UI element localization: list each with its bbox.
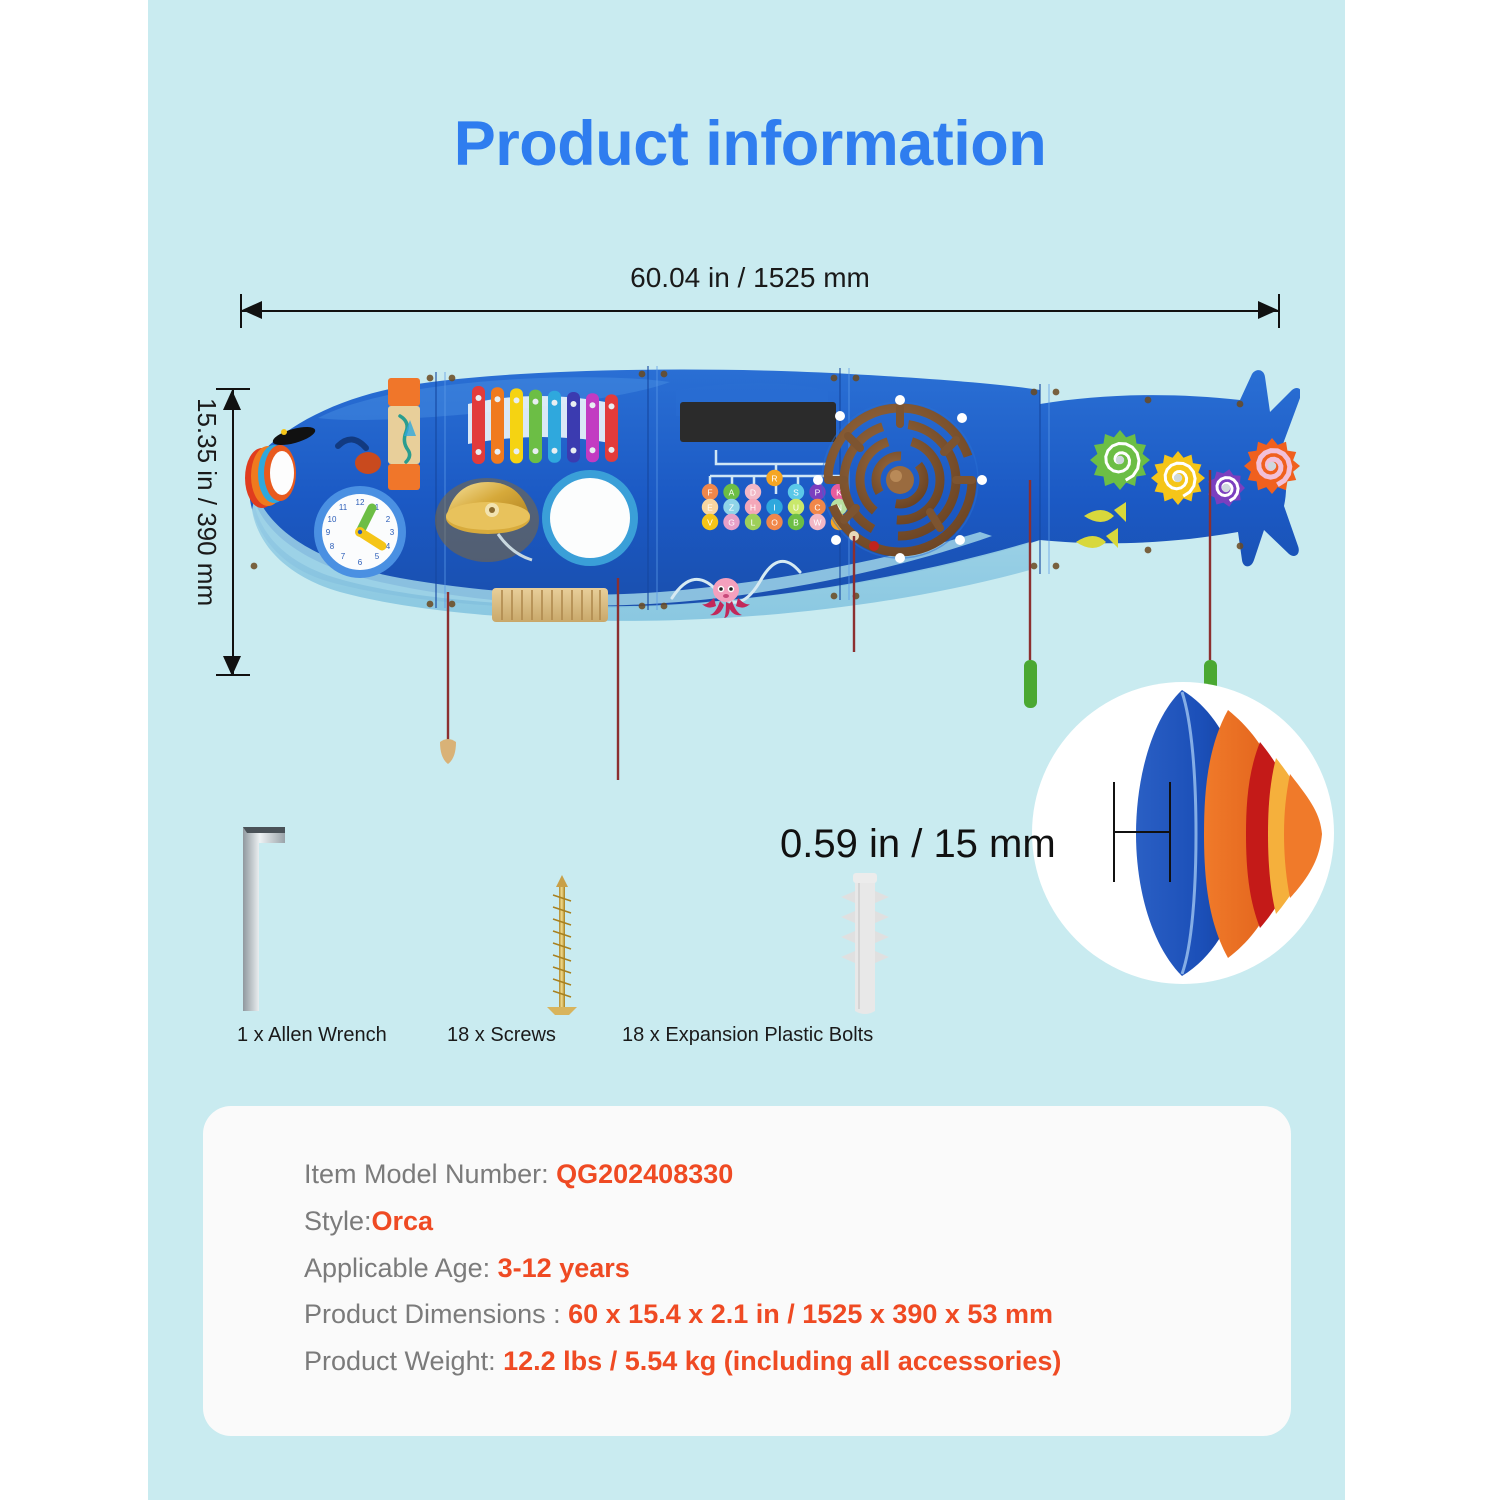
expansion-bolt-icon bbox=[841, 873, 889, 1014]
svg-text:9: 9 bbox=[326, 528, 331, 537]
width-arrow-left-icon bbox=[242, 301, 262, 319]
xylophone-screw bbox=[609, 403, 615, 409]
spec-row-model: Item Model Number: QG202408330 bbox=[304, 1158, 1061, 1192]
height-arrow-up-icon bbox=[223, 390, 241, 410]
spec-row-dimensions: Product Dimensions : 60 x 15.4 x 2.1 in … bbox=[304, 1298, 1061, 1332]
height-dimension-line bbox=[232, 388, 234, 676]
gear-hub bbox=[1268, 462, 1276, 470]
page-title: Product information bbox=[0, 108, 1500, 180]
xylophone-screw bbox=[476, 395, 482, 401]
accessory-label-expansion-bolts: 18 x Expansion Plastic Bolts bbox=[622, 1024, 873, 1047]
svg-text:10: 10 bbox=[328, 515, 337, 524]
alphabet-bead-letter: L bbox=[751, 517, 756, 527]
gear-hub bbox=[1222, 484, 1230, 492]
alphabet-bead-letter: H bbox=[750, 502, 756, 512]
alphabet-bead-letter: F bbox=[707, 487, 712, 497]
alphabet-bead-letter: P bbox=[815, 487, 821, 497]
svg-text:8: 8 bbox=[330, 542, 335, 551]
spinning-disc[interactable] bbox=[542, 470, 638, 566]
spec-label-style: Style: bbox=[304, 1206, 372, 1236]
spec-value-model: QG202408330 bbox=[556, 1159, 733, 1189]
svg-text:3: 3 bbox=[390, 528, 395, 537]
svg-text:2: 2 bbox=[386, 515, 391, 524]
alphabet-bead-letter: V bbox=[707, 517, 713, 527]
spec-label-dimensions: Product Dimensions : bbox=[304, 1299, 561, 1329]
width-dimension-line bbox=[240, 310, 1280, 312]
teaching-clock[interactable]: 121 23 45 67 89 1011 bbox=[314, 486, 406, 578]
alphabet-bead-letter: G bbox=[728, 517, 735, 527]
accessory-label-screws: 18 x Screws bbox=[447, 1024, 556, 1047]
alphabet-bead-letter: S bbox=[793, 487, 799, 497]
height-arrow-down-icon bbox=[223, 656, 241, 676]
alphabet-bead-letter: C bbox=[814, 502, 820, 512]
spec-row-age: Applicable Age: 3-12 years bbox=[304, 1252, 1061, 1286]
wooden-roller[interactable] bbox=[492, 588, 608, 622]
xylophone-screw bbox=[609, 447, 615, 453]
xylophone-screw bbox=[495, 449, 501, 455]
svg-text:11: 11 bbox=[339, 503, 348, 512]
gear-hub bbox=[1116, 456, 1124, 464]
spec-label-model: Item Model Number: bbox=[304, 1159, 549, 1189]
width-dimension-label: 60.04 in / 1525 mm bbox=[0, 262, 1500, 294]
width-arrow-right-icon bbox=[1258, 301, 1278, 319]
alphabet-bead-letter: E bbox=[707, 502, 713, 512]
alphabet-bead-letter: A bbox=[729, 487, 735, 497]
svg-text:7: 7 bbox=[341, 552, 346, 561]
thickness-detail-circle bbox=[1032, 682, 1334, 984]
spec-label-age: Applicable Age: bbox=[304, 1253, 490, 1283]
brass-bell[interactable] bbox=[435, 478, 539, 562]
chalkboard[interactable] bbox=[676, 383, 844, 442]
gear-hub bbox=[1174, 474, 1182, 482]
spec-value-age: 3-12 years bbox=[498, 1253, 630, 1283]
xylophone-screw bbox=[590, 402, 596, 408]
alphabet-bead-letter: Z bbox=[729, 502, 734, 512]
xylophone-screw bbox=[514, 397, 520, 403]
alphabet-bead-letter: D bbox=[750, 487, 756, 497]
product-information-page: Product information 60.04 in / 1525 mm 1… bbox=[0, 0, 1500, 1500]
svg-text:5: 5 bbox=[375, 552, 380, 561]
spec-label-weight: Product Weight: bbox=[304, 1346, 496, 1376]
alphabet-bead-letter: I bbox=[773, 502, 775, 512]
spec-row-weight: Product Weight: 12.2 lbs / 5.54 kg (incl… bbox=[304, 1345, 1061, 1379]
alphabet-bead-letter: W bbox=[813, 517, 821, 527]
svg-text:4: 4 bbox=[386, 542, 391, 551]
svg-text:6: 6 bbox=[358, 558, 363, 567]
svg-text:12: 12 bbox=[356, 498, 365, 507]
specification-card: Item Model Number: QG202408330 Style:Orc… bbox=[203, 1106, 1291, 1436]
xylophone-screw bbox=[552, 400, 558, 406]
specification-list: Item Model Number: QG202408330 Style:Orc… bbox=[304, 1158, 1061, 1392]
xylophone-screw bbox=[514, 448, 520, 454]
circular-wooden-maze[interactable] bbox=[813, 395, 987, 563]
xylophone-screw bbox=[571, 401, 577, 407]
spec-row-style: Style:Orca bbox=[304, 1205, 1061, 1239]
spec-value-dimensions: 60 x 15.4 x 2.1 in / 1525 x 390 x 53 mm bbox=[568, 1299, 1053, 1329]
accessories-illustrations bbox=[225, 815, 925, 1020]
xylophone-screw bbox=[533, 448, 539, 454]
allen-wrench-icon bbox=[243, 827, 285, 1011]
seahorse-roller[interactable] bbox=[388, 378, 420, 490]
spec-value-weight: 12.2 lbs / 5.54 kg (including all access… bbox=[503, 1346, 1061, 1376]
xylophone-screw bbox=[590, 447, 596, 453]
xylophone-screw bbox=[533, 399, 539, 405]
xylophone-screw bbox=[476, 449, 482, 455]
alphabet-bead-letter: B bbox=[793, 517, 799, 527]
accessory-label-allen-wrench: 1 x Allen Wrench bbox=[237, 1024, 387, 1047]
spec-value-style: Orca bbox=[372, 1206, 434, 1236]
height-dimension-label: 15.35 in / 390 mm bbox=[191, 398, 222, 698]
alphabet-bead-letter: O bbox=[771, 517, 778, 527]
alphabet-bead-letter: U bbox=[793, 502, 799, 512]
xylophone-screw bbox=[552, 448, 558, 454]
alphabet-bead-letter: R bbox=[771, 473, 777, 483]
xylophone-screw bbox=[571, 448, 577, 454]
xylophone-screw bbox=[495, 396, 501, 402]
screw-icon bbox=[547, 875, 577, 1015]
